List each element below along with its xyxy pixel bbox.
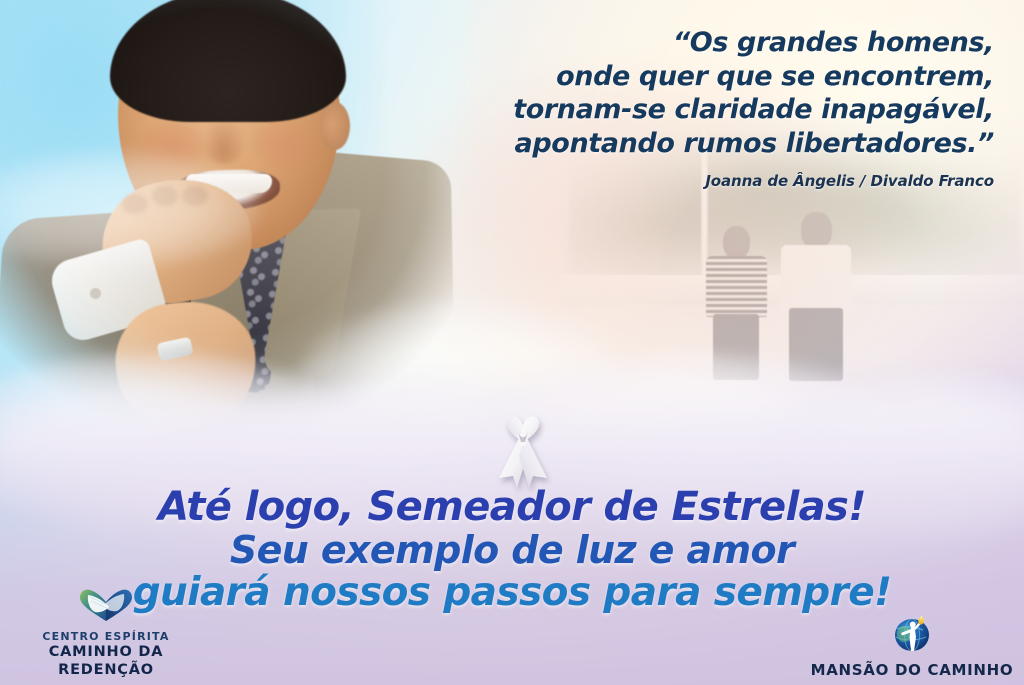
memorial-poster: “Os grandes homens, onde quer que se enc… xyxy=(0,0,1024,685)
quote-line-3: tornam-se claridade inapagável, xyxy=(374,93,994,127)
quote-attribution: Joanna de Ângelis / Divaldo Franco xyxy=(374,172,994,190)
quote-line-1: “Os grandes homens, xyxy=(374,26,994,60)
quote-line-4: apontando rumos libertadores.” xyxy=(374,127,994,161)
logo-right-line-1: MANSÃO DO CAMINHO xyxy=(810,661,1014,679)
white-mourning-ribbon-icon xyxy=(487,412,559,490)
quote-block: “Os grandes homens, onde quer que se enc… xyxy=(374,26,994,190)
logo-centro-espirita-caminho-da-redencao: CENTRO ESPÍRITA CAMINHO DA REDENÇÃO xyxy=(8,588,204,679)
logo-left-line-2: CAMINHO DA REDENÇÃO xyxy=(8,644,204,679)
headline-line-1: Até logo, Semeador de Estrelas! xyxy=(0,487,1024,527)
logo-mansao-do-caminho: MANSÃO DO CAMINHO xyxy=(810,613,1014,679)
quote-line-2: onde quer que se encontrem, xyxy=(374,60,994,94)
globe-figure-flame-icon xyxy=(810,613,1014,658)
logo-left-line-1: CENTRO ESPÍRITA xyxy=(8,630,204,644)
headline-line-2: Seu exemplo de luz e amor xyxy=(0,531,1024,569)
heart-hands-icon xyxy=(8,588,204,627)
